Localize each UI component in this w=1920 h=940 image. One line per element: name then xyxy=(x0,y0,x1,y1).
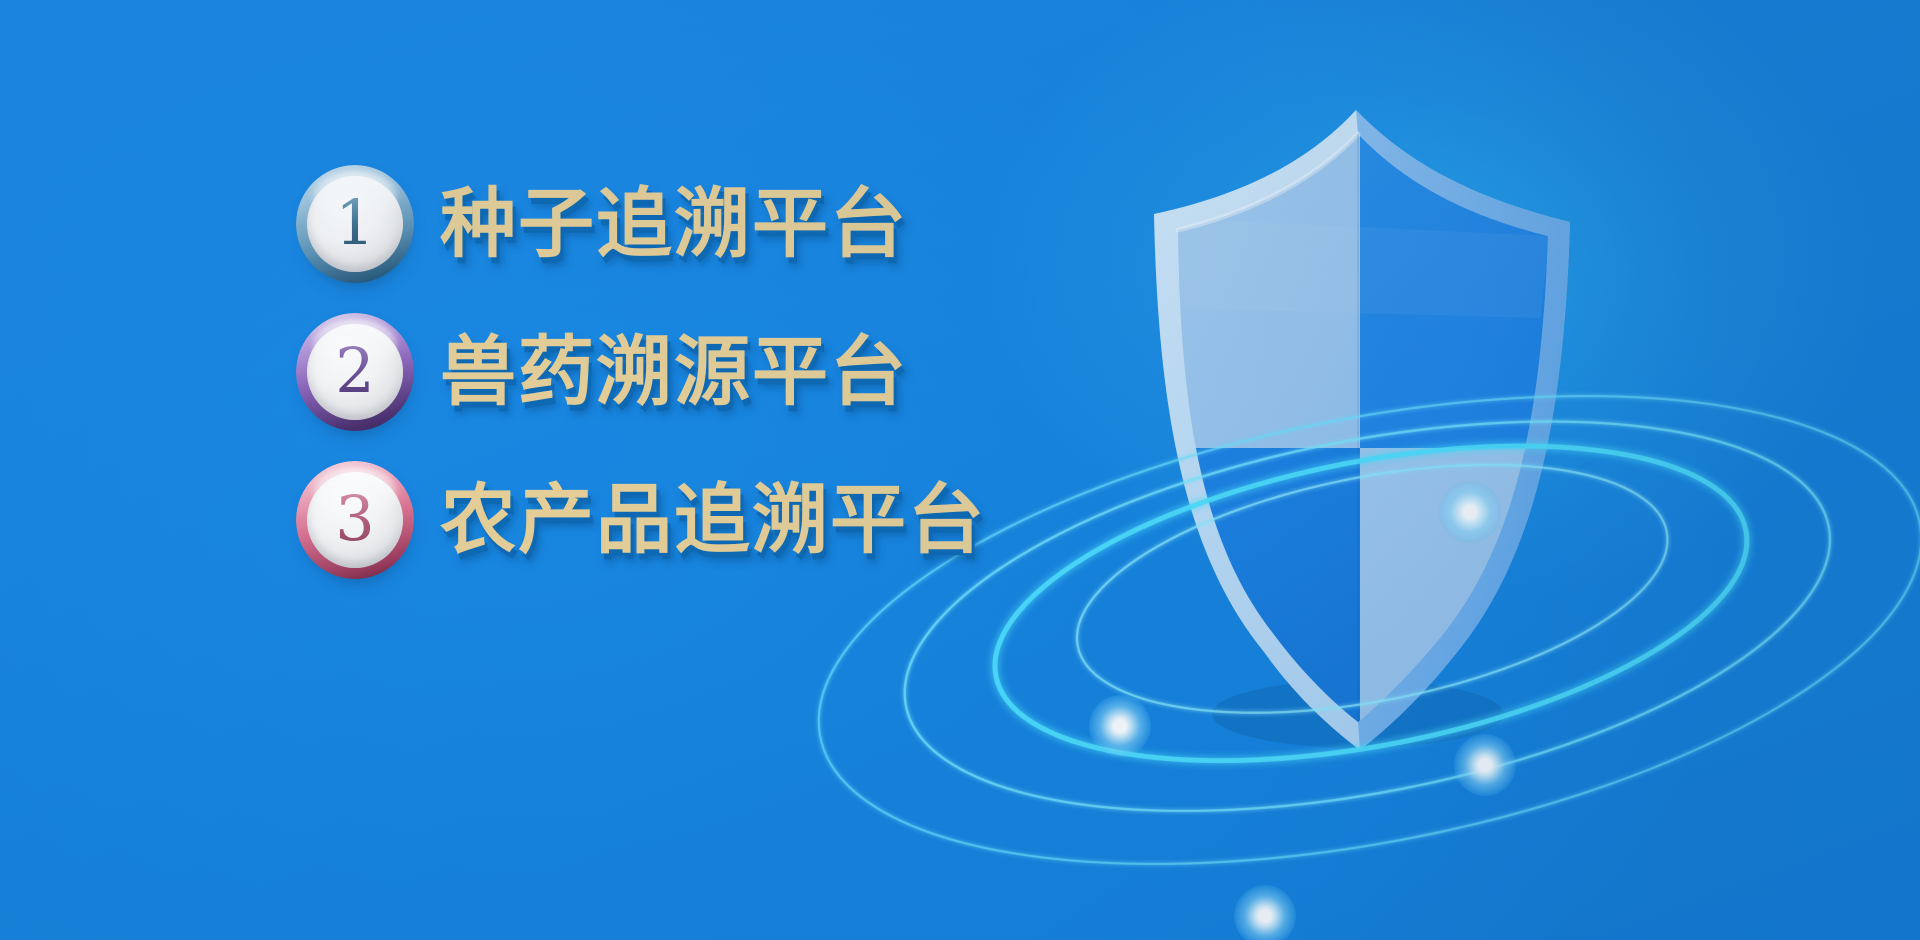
platform-label-1: 种子追溯平台 xyxy=(440,186,908,262)
platform-row-1[interactable]: 1 种子追溯平台 xyxy=(296,150,1036,298)
badge-number-label: 1 xyxy=(335,192,374,254)
badge-three-wrapper: 3 xyxy=(296,461,414,579)
security-shield-graphic xyxy=(1110,118,1670,758)
shield-svg xyxy=(1110,118,1670,758)
badge-two-wrapper: 2 xyxy=(296,313,414,431)
badge-number-label: 2 xyxy=(335,340,374,402)
number-badge-one[interactable]: 1 xyxy=(296,165,414,283)
number-badge-three[interactable]: 3 xyxy=(296,461,414,579)
number-badge-two[interactable]: 2 xyxy=(296,313,414,431)
badge-number-label: 3 xyxy=(335,488,374,550)
platform-row-2[interactable]: 2 兽药溯源平台 xyxy=(296,298,1036,446)
badge-one-wrapper: 1 xyxy=(296,165,414,283)
platform-label-2: 兽药溯源平台 xyxy=(440,334,908,410)
platform-label-3: 农产品追溯平台 xyxy=(440,482,986,558)
platform-list: 1 种子追溯平台 2 兽药溯源平台 xyxy=(296,150,1036,594)
platform-row-3[interactable]: 3 农产品追溯平台 xyxy=(296,446,1036,594)
banner-canvas: 1 种子追溯平台 2 兽药溯源平台 xyxy=(0,0,1920,940)
